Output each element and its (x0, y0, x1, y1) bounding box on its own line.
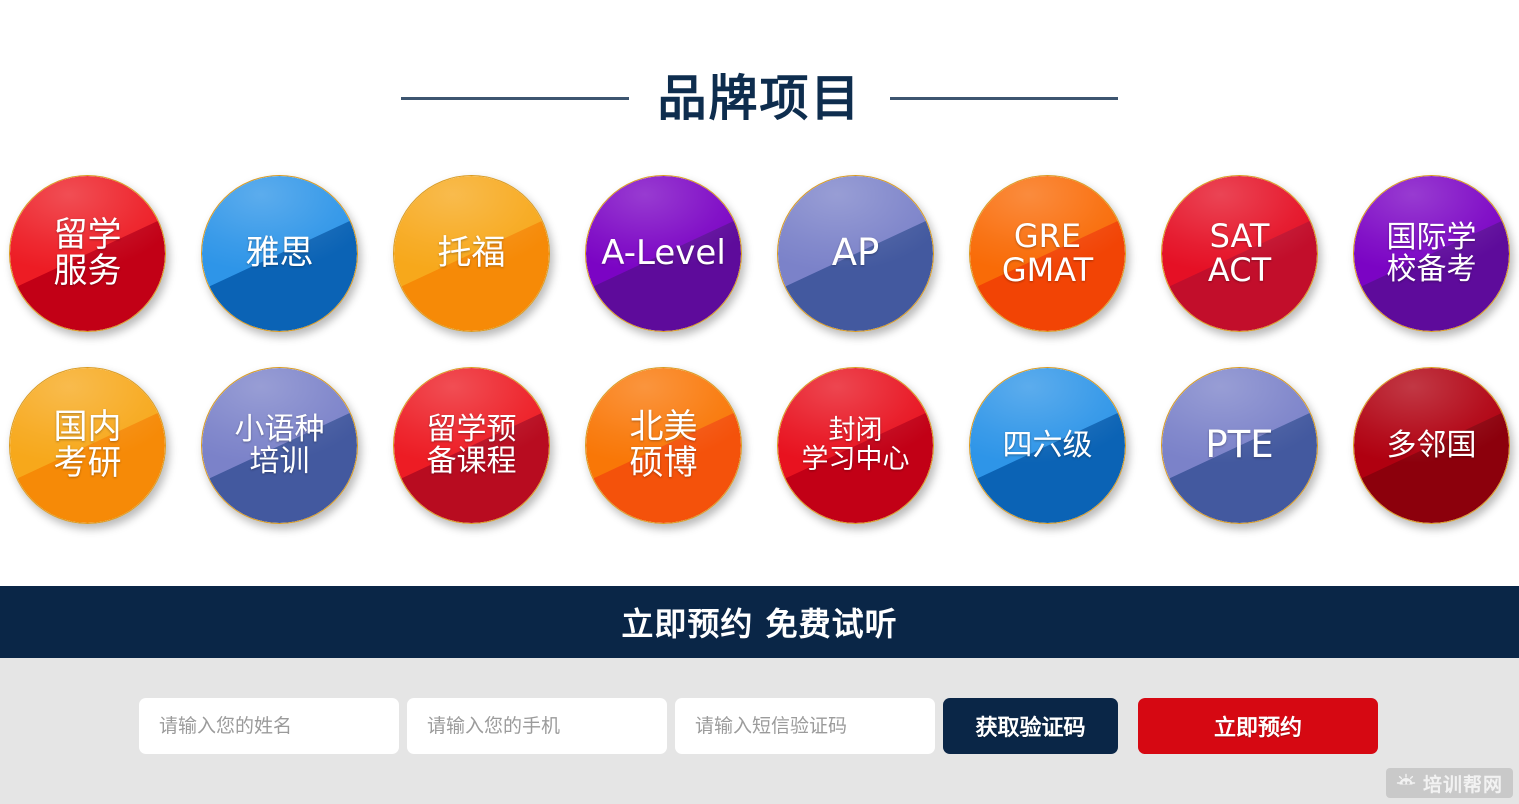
program-bubble-liuxue-yubei[interactable]: 留学预备课程 (393, 367, 550, 524)
label-line: PTE (1205, 426, 1273, 464)
label-line: 多邻国 (1387, 430, 1477, 461)
label-line: 北美 (630, 410, 698, 445)
program-bubble-xiaoyuzhong[interactable]: 小语种培训 (201, 367, 358, 524)
program-grid: 留学服务雅思托福A-LevelAPGREGMATSATACT国际学校备考 国内考… (0, 175, 1519, 524)
program-bubble-label: GREGMAT (996, 220, 1099, 287)
program-bubble-label: AP (826, 234, 886, 272)
label-line: 校备考 (1387, 254, 1477, 285)
program-bubble-label: 国内考研 (48, 410, 128, 481)
program-bubble-label: 托福 (432, 236, 512, 271)
program-bubble-label: 雅思 (240, 236, 320, 271)
program-row-2: 国内考研小语种培训留学预备课程北美硕博封闭学习中心四六级PTE多邻国 (0, 367, 1519, 524)
get-sms-code-button[interactable]: 获取验证码 (943, 698, 1118, 754)
program-bubble-guoji-xuexiao[interactable]: 国际学校备考 (1353, 175, 1510, 332)
label-line: 硕博 (630, 446, 698, 481)
label-line: 留学 (54, 218, 122, 253)
label-line: A-Level (601, 236, 726, 271)
program-bubble-label: 国际学校备考 (1381, 222, 1483, 284)
booking-form: 获取验证码 立即预约 (139, 698, 1378, 754)
label-line: 考研 (54, 446, 122, 481)
label-line: 服务 (54, 254, 122, 289)
label-line: ACT (1208, 254, 1271, 287)
page-header: 品牌项目 (0, 58, 1519, 138)
label-line: 培训 (235, 446, 325, 477)
program-row-1: 留学服务雅思托福A-LevelAPGREGMATSATACT国际学校备考 (0, 175, 1519, 332)
program-bubble-guonei-kaoyan[interactable]: 国内考研 (9, 367, 166, 524)
program-bubble-label: 留学服务 (48, 218, 128, 289)
program-bubble-label: PTE (1199, 426, 1279, 464)
label-line: 国际学 (1387, 222, 1477, 253)
program-bubble-sat-act[interactable]: SATACT (1161, 175, 1318, 332)
submit-booking-button[interactable]: 立即预约 (1138, 698, 1378, 754)
program-bubble-label: 四六级 (997, 430, 1099, 461)
program-bubble-label: 北美硕博 (624, 410, 704, 481)
label-line: 雅思 (246, 236, 314, 271)
program-bubble-duolingguo[interactable]: 多邻国 (1353, 367, 1510, 524)
label-line: GMAT (1002, 254, 1093, 287)
label-line: SAT (1208, 220, 1271, 253)
program-bubble-label: 留学预备课程 (421, 414, 523, 476)
label-line: AP (832, 234, 880, 272)
program-bubble-tuofu[interactable]: 托福 (393, 175, 550, 332)
program-bubble-label: 小语种培训 (229, 414, 331, 476)
label-line: 国内 (54, 410, 122, 445)
label-line: 小语种 (235, 414, 325, 445)
title-rule-right (890, 97, 1118, 100)
label-line: 托福 (438, 236, 506, 271)
title-rule-left (401, 97, 629, 100)
program-bubble-gre-gmat[interactable]: GREGMAT (969, 175, 1126, 332)
label-line: 学习中心 (802, 446, 910, 474)
page-title: 品牌项目 (657, 74, 861, 123)
program-bubble-fengbi-zhongxin[interactable]: 封闭学习中心 (777, 367, 934, 524)
program-bubble-a-level[interactable]: A-Level (585, 175, 742, 332)
booking-form-strip: 获取验证码 立即预约 (0, 658, 1519, 804)
program-bubble-label: A-Level (595, 236, 732, 271)
label-line: 留学预 (427, 414, 517, 445)
name-input[interactable] (139, 698, 399, 754)
program-bubble-ap[interactable]: AP (777, 175, 934, 332)
label-line: 封闭 (802, 417, 910, 445)
site-watermark: 培训帮网 (1386, 768, 1513, 798)
program-bubble-silu-ji[interactable]: 四六级 (969, 367, 1126, 524)
cta-banner: 立即预约 免费试听 (0, 586, 1519, 658)
program-bubble-liuxue-fuwu[interactable]: 留学服务 (9, 175, 166, 332)
program-bubble-label: 封闭学习中心 (796, 417, 916, 473)
label-line: 备课程 (427, 446, 517, 477)
label-line: 四六级 (1003, 430, 1093, 461)
program-bubble-beimei-shuobo[interactable]: 北美硕博 (585, 367, 742, 524)
sms-code-input[interactable] (675, 698, 935, 754)
program-bubble-pte[interactable]: PTE (1161, 367, 1318, 524)
program-bubble-label: SATACT (1202, 220, 1277, 287)
program-bubble-label: 多邻国 (1381, 430, 1483, 461)
sun-eye-icon (1396, 773, 1416, 793)
watermark-label: 培训帮网 (1423, 770, 1503, 797)
label-line: GRE (1002, 220, 1093, 253)
cta-banner-title: 立即预约 免费试听 (621, 599, 897, 645)
program-bubble-yasi[interactable]: 雅思 (201, 175, 358, 332)
phone-input[interactable] (407, 698, 667, 754)
